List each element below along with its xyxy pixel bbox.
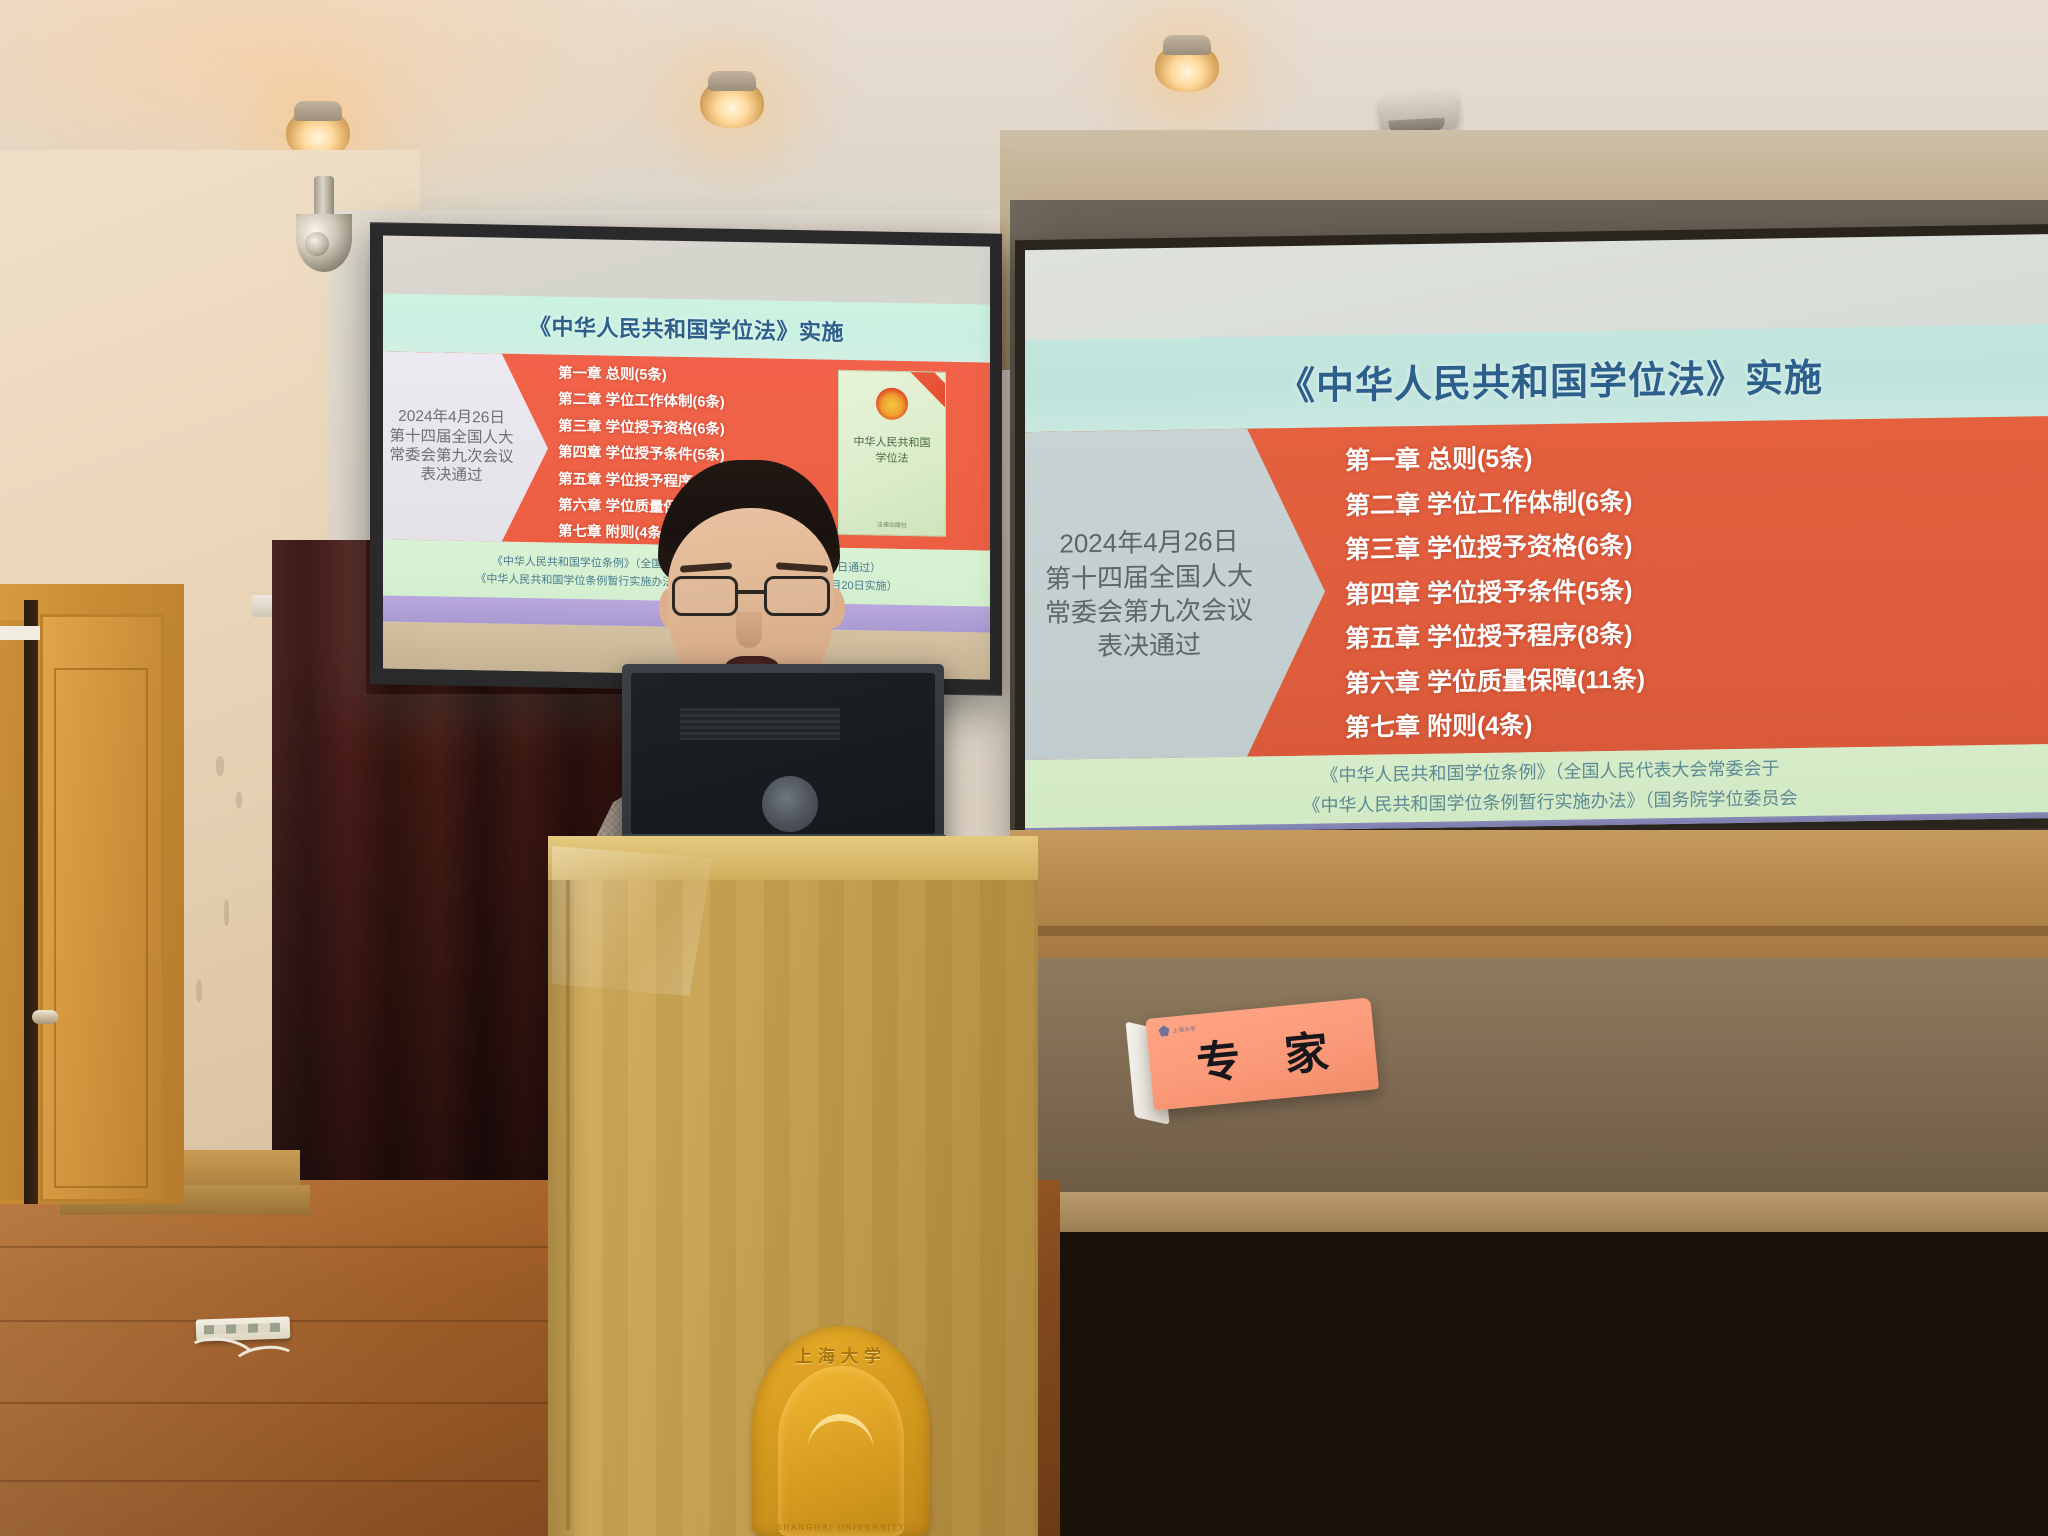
slide-left-date-line: 常委会第九次会议	[389, 446, 513, 468]
floor-plank-line	[0, 1320, 600, 1322]
wall-scuff	[216, 756, 224, 776]
slide-right-footnote: 《中华人民共和国学位条例暂行实施办法》（国务院学位委员会	[1303, 784, 1798, 818]
slide-right-date-line: 常委会第九次会议	[1045, 593, 1253, 631]
slide-right-title: 《中华人民共和国学位法》实施	[1277, 346, 1823, 410]
ceiling-downlight-center	[700, 78, 764, 128]
slide-right-chapter-item: 第七章 附则(4条)	[1345, 697, 1905, 750]
slide-right-footnote: 《中华人民共和国学位条例》（全国人民代表大会常委会于	[1321, 754, 1780, 787]
floor-plank-line	[0, 1402, 560, 1404]
floor-plank-line	[0, 1246, 560, 1248]
wall-wood-trim-right	[1010, 830, 2048, 970]
slide-right-date-line: 2024年4月26日	[1059, 524, 1238, 561]
monitor-logo-icon	[762, 776, 818, 832]
smoke-detector-icon	[1379, 93, 1459, 131]
slide-right-chapter-list: 第一章 总则(5条) 第二章 学位工作体制(6条) 第三章 学位授予资格(6条)…	[1345, 430, 1905, 750]
door-gap	[24, 600, 38, 1204]
slide-left-date-chevron: 2024年4月26日 第十四届全国人大 常委会第九次会议 表决通过	[383, 351, 548, 542]
slide-right-date-line: 表决通过	[1097, 628, 1201, 664]
national-emblem-icon	[876, 387, 908, 420]
ceiling-downlight-right	[1155, 42, 1219, 92]
wall-scuff	[196, 980, 202, 1002]
podium-side-shade	[548, 880, 590, 1536]
camera-lens	[305, 232, 329, 256]
lecture-hall-photo: 《中华人民共和国学位法》实施 2024年4月26日 第十四届全国人大 常委会第九…	[0, 0, 2048, 1536]
slide-left-title: 《中华人民共和国学位法》实施	[529, 309, 844, 347]
slide-left-date-line: 2024年4月26日	[398, 407, 505, 428]
name-card-label: 专 家	[1177, 1014, 1347, 1093]
door-panel-inset	[54, 668, 148, 1188]
slide-right-date-line: 第十四届全国人大	[1045, 558, 1253, 596]
slide-right-body: 2024年4月26日 第十四届全国人大 常委会第九次会议 表决通过 第一章 总则…	[1025, 416, 2048, 760]
podium-monitor[interactable]	[622, 664, 944, 864]
eyeglass-bridge	[738, 590, 766, 594]
book-title-line1: 中华人民共和国	[839, 433, 945, 451]
emblem-university-name-en: SHANGHAI UNIVERSITY	[752, 1523, 930, 1532]
wall-scuff	[236, 792, 242, 808]
university-logo-icon	[1158, 1025, 1170, 1037]
slide-right-date-chevron: 2024年4月26日 第十四届全国人大 常委会第九次会议 表决通过	[1025, 427, 1325, 760]
door-leaf-secondary[interactable]	[0, 620, 26, 1200]
emblem-inner-arch	[778, 1366, 904, 1536]
emblem-university-name: 上海大学	[752, 1342, 930, 1367]
eyeglass-lens-left	[672, 576, 738, 616]
door-handle[interactable]	[32, 1010, 58, 1024]
floor-plank-line	[0, 1480, 540, 1482]
monitor-vents	[680, 708, 840, 740]
speaker-name-card: 专 家 上海大学	[1145, 997, 1380, 1126]
door-label-plate	[0, 626, 40, 640]
presenter-nose	[736, 612, 762, 648]
name-card-logo-text: 上海大学	[1172, 1024, 1196, 1034]
eyeglass-lens-right	[764, 576, 830, 616]
slide-right-header: 《中华人民共和国学位法》实施	[1025, 324, 2048, 432]
projection-screen-right: 《中华人民共和国学位法》实施 2024年4月26日 第十四届全国人大 常委会第九…	[1015, 224, 2048, 845]
stage-lip	[1000, 1192, 2048, 1232]
security-camera-icon	[296, 176, 352, 272]
slide-left-date-line: 表决通过	[420, 466, 482, 487]
wall-scuff	[224, 900, 229, 926]
slide-right: 《中华人民共和国学位法》实施 2024年4月26日 第十四届全国人大 常委会第九…	[1025, 234, 2048, 834]
shanghai-university-emblem-icon: 上海大学 SHANGHAI UNIVERSITY	[752, 1326, 930, 1536]
slide-left-date-line: 第十四届全国人大	[389, 426, 513, 448]
